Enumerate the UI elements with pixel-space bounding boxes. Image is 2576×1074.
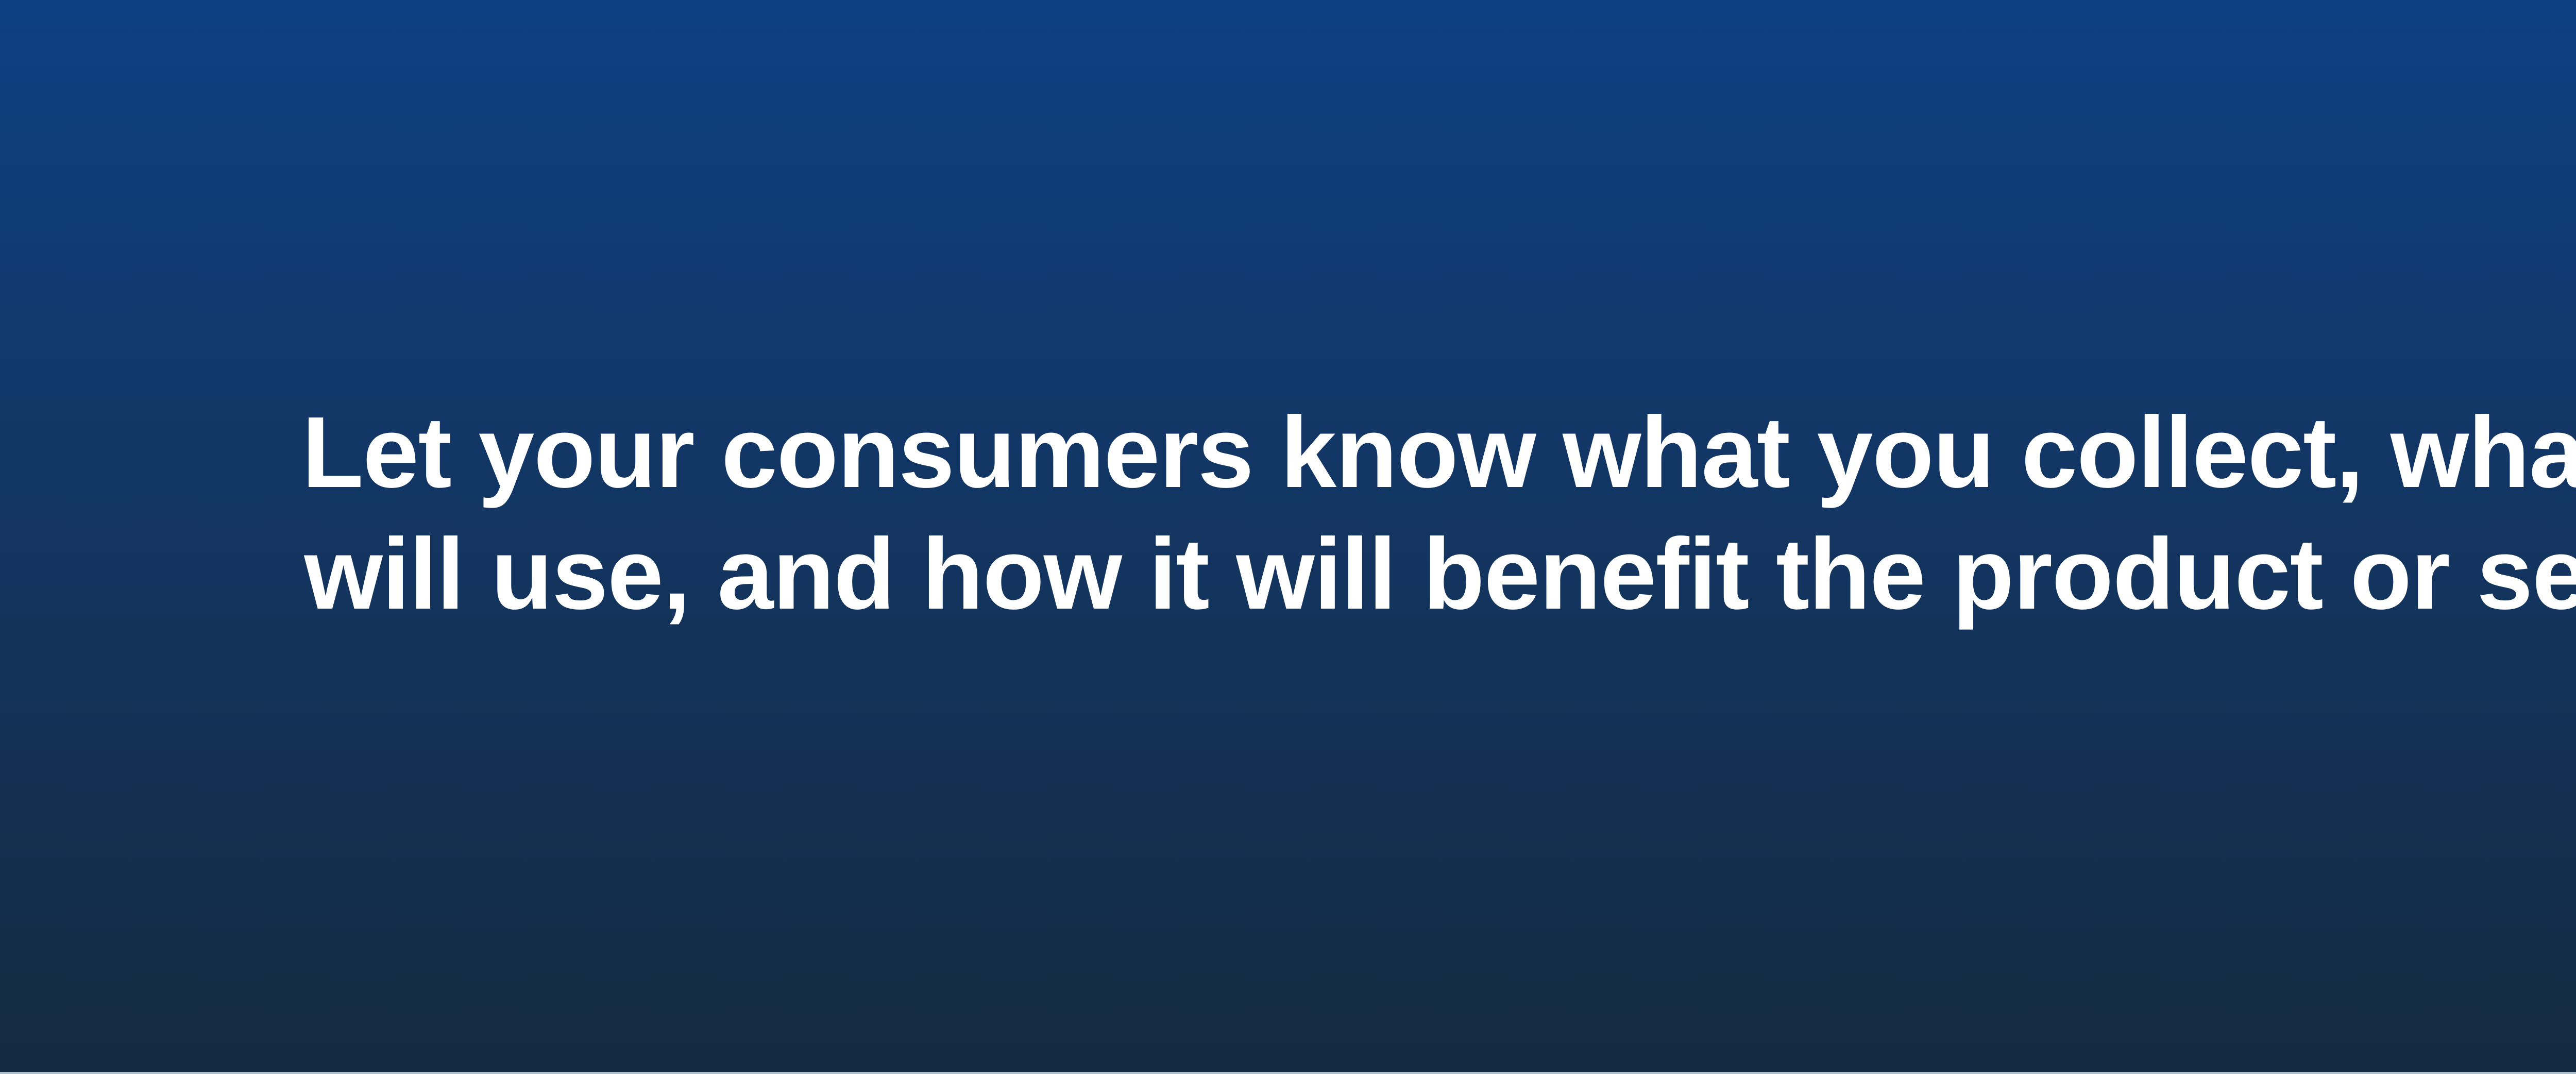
headline-block: Let your consumers know what you collect…: [0, 392, 2576, 635]
headline-line-2: will use, and how it will benefit the pr…: [0, 513, 2576, 635]
bottom-edge-rule: [0, 1072, 2576, 1074]
headline-line-1: Let your consumers know what you collect…: [0, 392, 2576, 513]
slide-canvas: Let your consumers know what you collect…: [0, 0, 2576, 1074]
